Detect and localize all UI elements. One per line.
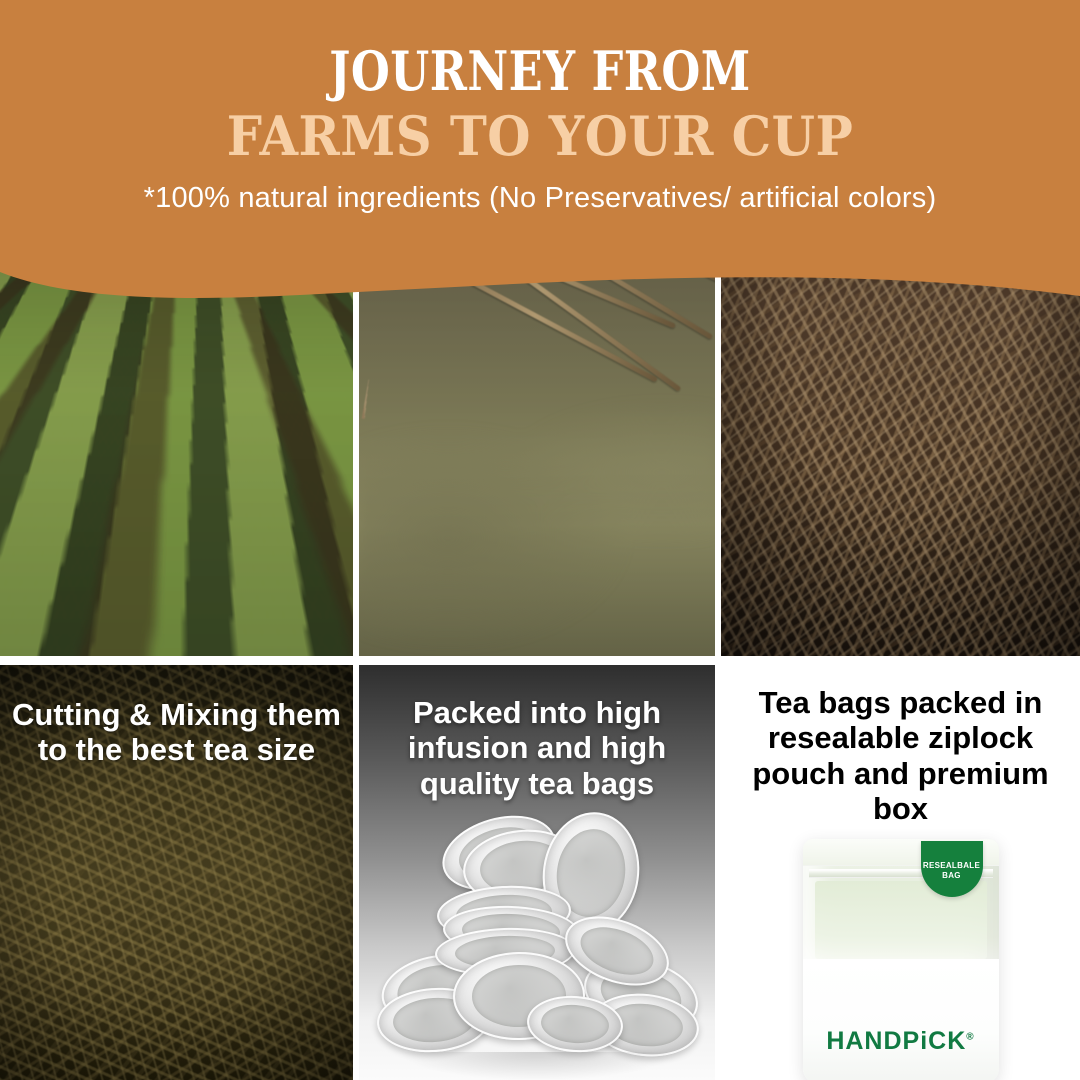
header-title-line-2: FARMS TO YOUR CUP (43, 99, 1037, 164)
divider-horizontal-left (0, 656, 353, 665)
header-subtitle: *100% natural ingredients (No Preservati… (0, 164, 1080, 215)
panel-5-line-1: Packed into high (365, 695, 709, 730)
panel-6-caption: Tea bags packed in resealable ziplock po… (721, 685, 1080, 826)
panel-6-line-3: pouch and premium (727, 756, 1074, 791)
panel-5-line-3: quality tea bags (365, 766, 709, 801)
brand-logo-text: HANDPiCK® (803, 1027, 999, 1056)
header-text-block: JOURNEY FROM FARMS TO YOUR CUP *100% nat… (0, 0, 1080, 215)
panel-4-caption: Cutting & Mixing them to the best tea si… (0, 697, 353, 768)
panel-cutting-mixing: Cutting & Mixing them to the best tea si… (0, 665, 353, 1080)
product-pouch: RESEALBALE BAG HANDPiCK® (803, 839, 999, 1080)
brand-trademark: ® (966, 1032, 974, 1043)
panel-4-line-2: to the best tea size (6, 732, 347, 767)
panel-5-line-2: infusion and high (365, 730, 709, 765)
infographic-root: Sourced directly from farms - No polluti… (0, 0, 1080, 1080)
pod-stack-reflection (402, 1052, 673, 1080)
panel-packed-tea-bags: Packed into high infusion and high quali… (359, 665, 715, 1080)
divider-horizontal-right (721, 656, 1080, 665)
panel-6-line-1: Tea bags packed in (727, 685, 1074, 720)
tea-pod-stack (377, 810, 697, 1078)
pouch-lower-face (803, 959, 999, 1080)
panel-resealable-pouch: Tea bags packed in resealable ziplock po… (721, 665, 1080, 1080)
brand-name: HANDPiCK (826, 1027, 966, 1055)
divider-horizontal-mid (359, 656, 715, 665)
header-title-line-1: JOURNEY FROM (43, 0, 1037, 99)
badge-line-1: RESEALBALE (923, 861, 980, 871)
badge-line-2: BAG (923, 871, 980, 881)
panel-6-line-4: box (727, 791, 1074, 826)
panel-6-line-2: resealable ziplock (727, 720, 1074, 755)
badge-text: RESEALBALE BAG (923, 857, 980, 881)
panel-5-caption: Packed into high infusion and high quali… (359, 695, 715, 801)
panel-4-line-1: Cutting & Mixing them (6, 697, 347, 732)
